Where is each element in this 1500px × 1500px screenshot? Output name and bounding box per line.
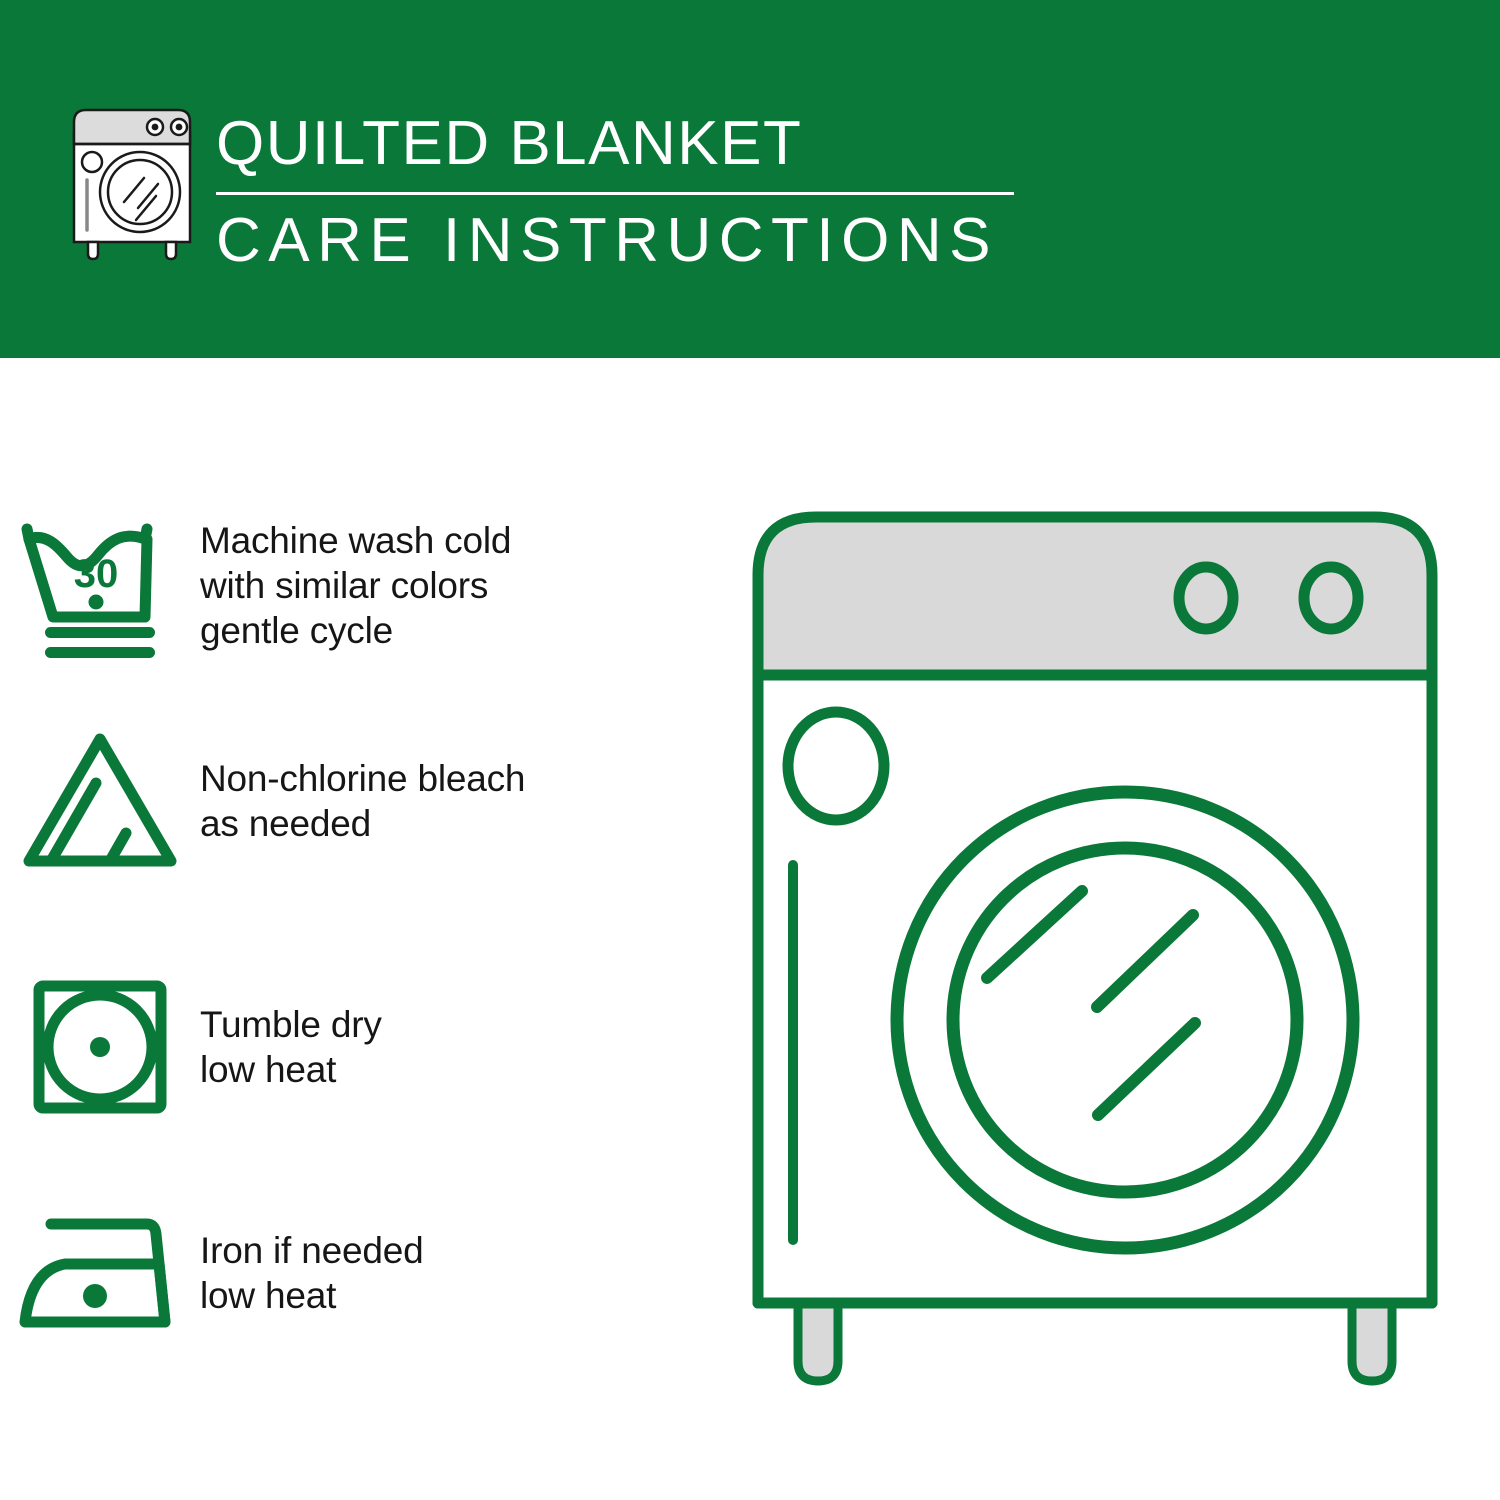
tumble-dry-low-heat-icon <box>0 962 200 1132</box>
instruction-line: as needed <box>200 801 525 846</box>
front-load-washing-machine-illustration <box>740 495 1450 1425</box>
care-instructions-page: QUILTED BLANKET CARE INSTRUCTIONS <box>0 0 1500 1500</box>
instruction-row-bleach: Non-chlorine bleach as needed <box>0 716 720 886</box>
instruction-text-iron: Iron if needed low heat <box>200 1228 423 1318</box>
non-chlorine-bleach-triangle-icon <box>0 716 200 886</box>
instruction-line: low heat <box>200 1047 382 1092</box>
instruction-line: low heat <box>200 1273 423 1318</box>
leg-left <box>798 1303 838 1381</box>
control-panel <box>758 517 1432 675</box>
instruction-text-wash: Machine wash cold with similar colors ge… <box>200 518 511 653</box>
title-divider-rule <box>216 192 1014 195</box>
page-title-secondary: CARE INSTRUCTIONS <box>216 205 1036 277</box>
instruction-line: gentle cycle <box>200 608 511 653</box>
instruction-text-tumble-dry: Tumble dry low heat <box>200 1002 382 1092</box>
instruction-line: Machine wash cold <box>200 518 511 563</box>
instruction-row-iron: Iron if needed low heat <box>0 1188 720 1358</box>
page-title-primary: QUILTED BLANKET <box>216 108 1036 180</box>
instruction-line: Tumble dry <box>200 1002 382 1047</box>
leg-right <box>1352 1303 1392 1381</box>
instruction-line: with similar colors <box>200 563 511 608</box>
instruction-row-wash: 30 Machine wash cold with similar colors… <box>0 500 720 670</box>
washing-machine-icon <box>62 104 202 264</box>
instruction-text-bleach: Non-chlorine bleach as needed <box>200 756 525 846</box>
wash-tub-30-gentle-icon: 30 <box>0 500 200 670</box>
header-titles: QUILTED BLANKET CARE INSTRUCTIONS <box>216 108 1036 277</box>
iron-low-heat-icon <box>0 1188 200 1358</box>
instruction-line: Non-chlorine bleach <box>200 756 525 801</box>
wash-temperature-value: 30 <box>74 552 119 596</box>
instruction-row-tumble-dry: Tumble dry low heat <box>0 962 720 1132</box>
header-band: QUILTED BLANKET CARE INSTRUCTIONS <box>0 0 1500 358</box>
instruction-line: Iron if needed <box>200 1228 423 1273</box>
